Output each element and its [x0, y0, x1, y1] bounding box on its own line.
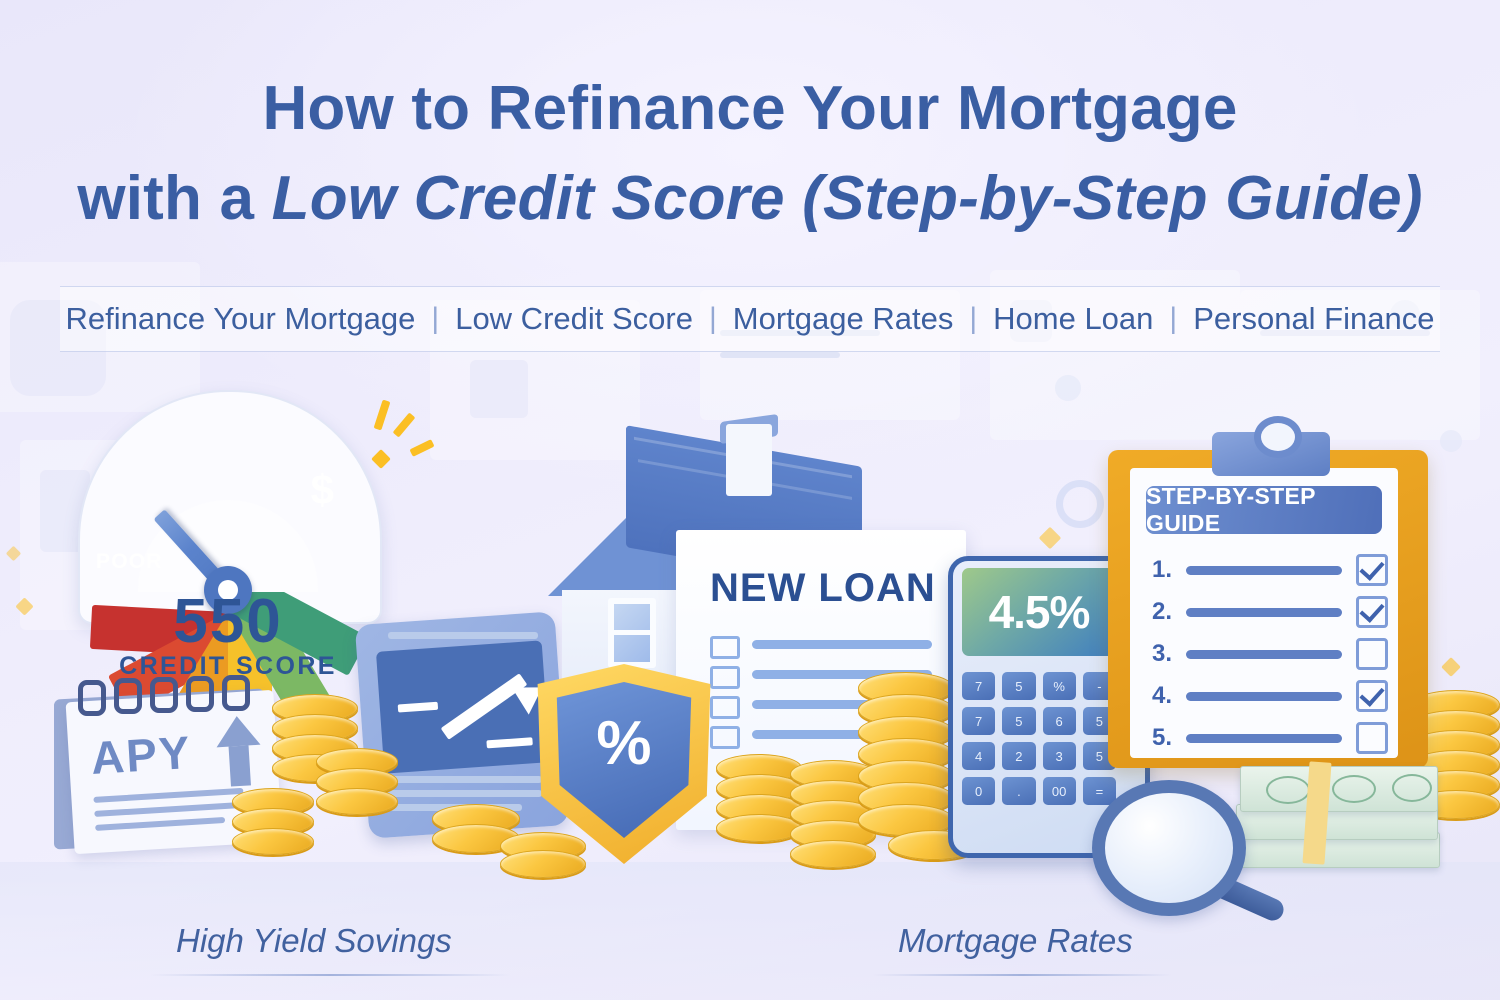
title-line-2: with a Low Credit Score (Step-by-Step Gu… [0, 168, 1500, 230]
calc-key[interactable]: 3 [1043, 742, 1076, 770]
apy-label: APY [89, 725, 193, 785]
checklist-checkbox[interactable] [1356, 554, 1388, 586]
percent-icon: % [534, 708, 714, 779]
tag-separator-0: | [431, 302, 439, 336]
checklist-checkbox[interactable] [1356, 596, 1388, 628]
title-line-2-emphasis: Low Credit Score (Step-by-Step Guide) [272, 164, 1423, 233]
calc-key[interactable]: 00 [1043, 777, 1076, 805]
interest-rate-display: 4.5% [989, 585, 1090, 639]
checklist-item[interactable]: 2. [1152, 596, 1388, 628]
tag-item-4[interactable]: Personal Finance [1177, 301, 1450, 337]
clipboard-paper: STEP-BY-STEP GUIDE 1. 2. 3. 4. [1130, 468, 1398, 758]
tag-item-2[interactable]: Mortgage Rates [717, 301, 970, 337]
tag-bar: Refinance Your Mortgage | Low Credit Sco… [60, 286, 1440, 352]
calc-key[interactable]: 6 [1043, 707, 1076, 735]
checklist-number: 3. [1152, 640, 1186, 668]
poster-canvas: How to Refinance Your Mortgage with a Lo… [0, 0, 1500, 1000]
calc-key[interactable]: 4 [962, 742, 995, 770]
document-title: NEW LOAN [710, 566, 936, 611]
calc-key[interactable]: 7 [962, 707, 995, 735]
checklist-line [1186, 608, 1342, 617]
calc-key[interactable]: 7 [962, 672, 995, 700]
checklist-item[interactable]: 5. [1152, 722, 1388, 754]
calc-key[interactable]: 2 [1002, 742, 1035, 770]
checklist-item[interactable]: 3. [1152, 638, 1388, 670]
checklist-checkbox[interactable] [1356, 722, 1388, 754]
percent-shield: % [534, 664, 714, 869]
checklist-line [1186, 734, 1342, 743]
page-title: How to Refinance Your Mortgage with a Lo… [0, 78, 1500, 230]
calc-key[interactable]: 5 [1002, 707, 1035, 735]
checklist-item[interactable]: 4. [1152, 680, 1388, 712]
checklist-line [1186, 650, 1342, 659]
checklist-number: 1. [1152, 556, 1186, 584]
tag-item-0[interactable]: Refinance Your Mortgage [50, 301, 432, 337]
clipboard-knob [1254, 416, 1302, 458]
caption-right-rule [872, 974, 1172, 976]
checklist-number: 4. [1152, 682, 1186, 710]
checklist-checkbox[interactable] [1356, 638, 1388, 670]
tag-separator-3: | [1169, 302, 1177, 336]
clipboard-heading: STEP-BY-STEP GUIDE [1146, 486, 1382, 534]
tag-separator-2: | [969, 302, 977, 336]
calc-key[interactable]: 0 [962, 777, 995, 805]
checklist-line [1186, 566, 1342, 575]
up-arrow-icon [215, 715, 261, 748]
tag-separator-1: | [709, 302, 717, 336]
step-by-step-clipboard: STEP-BY-STEP GUIDE 1. 2. 3. 4. [1108, 428, 1428, 768]
credit-score-value: 550 [78, 586, 378, 657]
checklist-line [1186, 692, 1342, 701]
checklist-number: 2. [1152, 598, 1186, 626]
up-arrow-stem [229, 745, 251, 786]
attic-window [608, 598, 656, 668]
caption-left-rule [150, 974, 510, 976]
tablet-screen [376, 640, 550, 773]
caption-right: Mortgage Rates [898, 922, 1133, 960]
magnifier-lens [1092, 780, 1246, 916]
checklist-checkbox[interactable] [1356, 680, 1388, 712]
checklist-item[interactable]: 1. [1152, 554, 1388, 586]
tag-item-3[interactable]: Home Loan [977, 301, 1169, 337]
growth-arrow-icon [441, 673, 528, 740]
gauge-zone-label: POOR [96, 550, 163, 574]
calc-key[interactable]: % [1043, 672, 1076, 700]
caption-left: High Yield Sovings [176, 922, 452, 960]
credit-score-gauge: $ POOR 550 CREDIT SCORE [78, 390, 378, 660]
title-line-1: How to Refinance Your Mortgage [0, 78, 1500, 140]
calc-key[interactable]: 5 [1002, 672, 1035, 700]
chimney [726, 424, 772, 496]
magnifying-glass-icon [1092, 780, 1282, 910]
title-line-2-regular: with a [77, 164, 271, 233]
checklist-number: 5. [1152, 724, 1186, 752]
dollar-icon: $ [311, 466, 334, 514]
calculator-screen: 4.5% [962, 568, 1116, 656]
tag-item-1[interactable]: Low Credit Score [439, 301, 709, 337]
calc-key[interactable]: . [1002, 777, 1035, 805]
